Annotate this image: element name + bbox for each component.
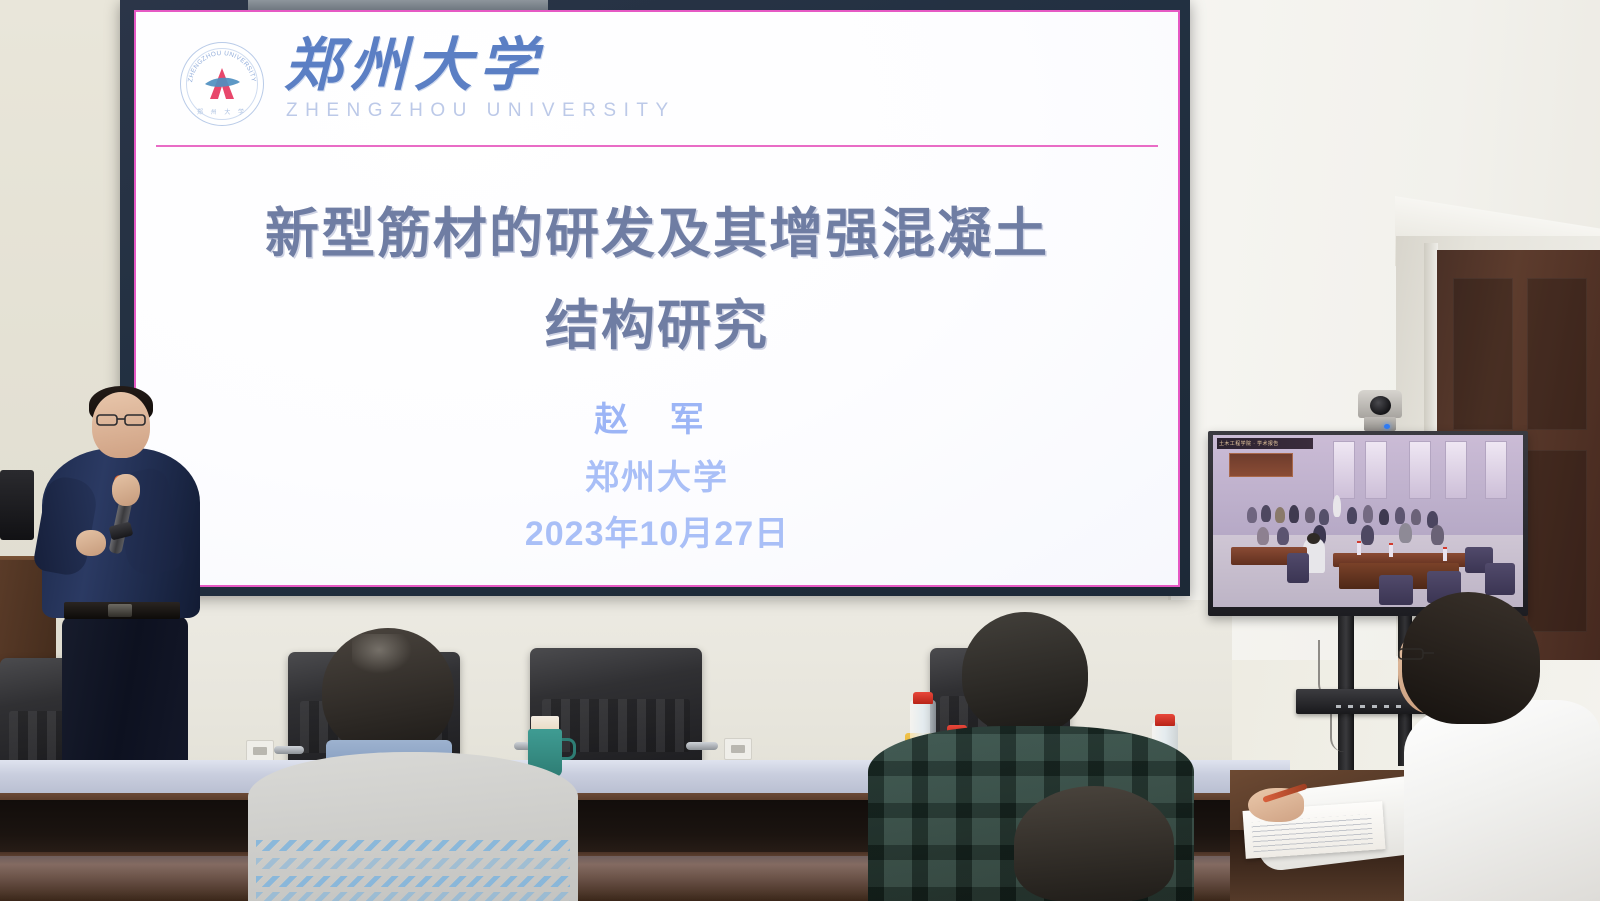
slide-affiliation: 郑州大学 (136, 450, 1178, 499)
slide-logo-band: ZHENGZHOU UNIVERSITY 郑 州 大 学 郑州大学 ZHENGZ… (136, 12, 1178, 147)
av-cable (1330, 712, 1352, 752)
slide-divider-line (156, 145, 1158, 147)
sweater-pattern (256, 838, 570, 901)
presenter-glasses-icon (96, 414, 146, 426)
seal-bottom-label: 郑 州 大 学 (181, 107, 263, 116)
attendee-hair-highlight (352, 634, 412, 674)
remote-room-plaque (1229, 453, 1293, 477)
slide-date: 2023年10月27日 (136, 506, 1178, 555)
wall-outlet (246, 740, 274, 762)
attendee-white-shirt-body (1404, 700, 1600, 901)
camera-status-led (1384, 424, 1390, 429)
wall-outlet (724, 738, 752, 760)
attendee-green-plaid-head (962, 612, 1088, 734)
chair-armrest (686, 742, 718, 750)
video-monitor-screen: 土木工程学院 · 学术报告 (1213, 435, 1523, 607)
presentation-slide: ZHENGZHOU UNIVERSITY 郑 州 大 学 郑州大学 ZHENGZ… (134, 10, 1180, 587)
podium-monitor (0, 470, 34, 540)
slide-title-line-1: 新型筋材的研发及其增强混凝土 (136, 188, 1178, 280)
slide-title-line-2: 结构研究 (136, 280, 1178, 372)
chair-armrest (274, 746, 304, 754)
presenter-belt-buckle (108, 604, 132, 617)
presenter-left-hand (76, 530, 106, 556)
lecture-room-screenshot: ZHENGZHOU UNIVERSITY 郑 州 大 学 郑州大学 ZHENGZ… (0, 0, 1600, 901)
university-seal-icon: ZHENGZHOU UNIVERSITY 郑 州 大 学 (180, 42, 264, 126)
presenter-right-hand (112, 474, 140, 506)
camera-base (1364, 417, 1396, 431)
remote-banner-text: 土木工程学院 · 学术报告 (1217, 438, 1313, 449)
slide-speaker-name: 赵 军 (136, 392, 1178, 441)
seal-emblem-icon (201, 65, 243, 105)
camera-lens-icon (1370, 396, 1391, 415)
bottle-cap (913, 692, 933, 704)
bottle-cap (1155, 714, 1175, 726)
university-wordmark-cn: 郑州大学 (284, 36, 544, 94)
slide-title: 新型筋材的研发及其增强混凝土 结构研究 (136, 188, 1178, 372)
attendee-glasses-icon (1398, 648, 1456, 660)
cup-holder-handle (560, 738, 576, 760)
attendee-front-row-head (1014, 786, 1174, 901)
remote-room-banner: 土木工程学院 · 学术报告 (1217, 438, 1313, 449)
university-wordmark-en: ZHENGZHOU UNIVERSITY (286, 100, 676, 122)
